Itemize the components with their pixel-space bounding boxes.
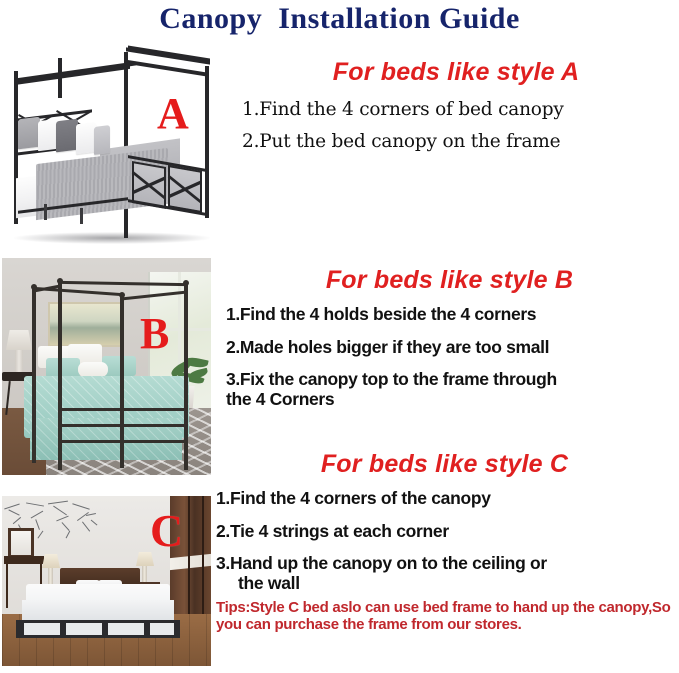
bed-shadow-a <box>14 232 210 244</box>
bed-leg-a-1 <box>44 204 47 220</box>
step-a-1: 1.Find the 4 corners of bed canopy <box>242 99 676 120</box>
step-c-3: 3.Hand up the canopy on to the ceiling o… <box>216 554 677 593</box>
badge-letter-a: A <box>157 92 189 136</box>
lamp-base-b <box>15 350 23 372</box>
instructions-style-b: For beds like style B 1.Find the 4 holds… <box>222 266 677 409</box>
pillow-a-1 <box>18 117 40 150</box>
bed-post-b-front-left <box>32 288 36 463</box>
pillow-b-accent <box>78 362 108 377</box>
pillow-a-4 <box>76 122 96 154</box>
heading-style-c: For beds like style C <box>212 450 677 479</box>
bed-post-a-back-left <box>58 58 62 98</box>
bed-base-panel-c-1 <box>24 623 60 635</box>
lamp-shade-c-left <box>42 554 60 568</box>
mirror-c <box>8 528 34 558</box>
heading-style-b: For beds like style B <box>222 266 677 295</box>
footboard-rail-b-2 <box>60 424 186 427</box>
step-c-2: 2.Tie 4 strings at each corner <box>216 522 677 542</box>
bed-leg-a-2 <box>80 208 83 224</box>
step-c-3-line2: the wall <box>216 574 677 594</box>
photo-style-b <box>2 258 211 475</box>
page-title: Canopy Installation Guide <box>0 2 679 36</box>
desk-leg-c-1 <box>6 564 8 608</box>
heading-style-a: For beds like style A <box>236 58 676 87</box>
step-b-3-line2: the 4 Corners <box>226 390 677 410</box>
pillow-a-2 <box>38 119 58 151</box>
step-a-2: 2.Put the bed canopy on the frame <box>242 131 676 152</box>
tips-note-c: Tips:Style C bed aslo can use bed frame … <box>216 599 677 633</box>
bed-post-a-back-right <box>205 66 209 218</box>
badge-letter-c: C <box>150 508 183 554</box>
pillow-b-3 <box>46 358 80 378</box>
installation-guide-page: Canopy Installation Guide <box>0 0 679 673</box>
lamp-shade-b <box>6 330 32 350</box>
footboard-rail-b-3 <box>60 440 186 443</box>
mattress-c-lower <box>22 600 174 622</box>
instructions-style-a: For beds like style A 1.Find the 4 corne… <box>236 58 676 152</box>
bed-base-panel-c-3 <box>108 623 144 635</box>
step-c-3-line1: 3.Hand up the canopy on to the ceiling o… <box>216 553 547 573</box>
desk-c <box>4 556 44 564</box>
photo-style-a <box>0 44 232 256</box>
pillow-a-3 <box>56 119 78 153</box>
footboard-rail-b-1 <box>60 408 186 411</box>
step-b-3-line1: 3.Fix the canopy top to the frame throug… <box>226 369 557 389</box>
bed-base-panel-c-4 <box>150 623 174 635</box>
step-b-1: 1.Find the 4 holds beside the 4 corners <box>226 305 677 325</box>
step-b-2: 2.Made holes bigger if they are too smal… <box>226 338 677 358</box>
badge-letter-b: B <box>140 312 169 356</box>
instructions-style-c: For beds like style C 1.Find the 4 corne… <box>212 450 677 634</box>
bed-base-panel-c-2 <box>66 623 102 635</box>
footboard-x-a-2 <box>168 165 202 213</box>
step-c-1: 1.Find the 4 corners of the canopy <box>216 489 677 509</box>
step-b-3: 3.Fix the canopy top to the frame throug… <box>226 370 677 409</box>
pillow-a-5 <box>94 125 110 155</box>
